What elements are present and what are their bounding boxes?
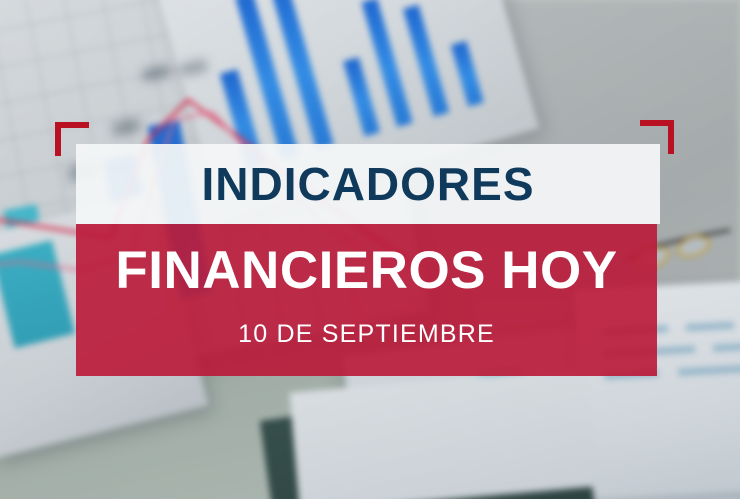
- photo-axis-label-280: 280: [110, 115, 142, 140]
- banner-title-line2: FINANCIEROS HOY: [76, 234, 657, 306]
- banner-title-line1: INDICADORES: [76, 144, 660, 224]
- banner-canvas: 400 410 280 250 INDICADORES FINANCIEROS …: [0, 0, 740, 499]
- banner-date: 10 DE SEPTIEMBRE: [76, 312, 657, 356]
- photo-axis-label-400: 400: [140, 61, 172, 86]
- photo-axis-label-410: 410: [178, 57, 208, 80]
